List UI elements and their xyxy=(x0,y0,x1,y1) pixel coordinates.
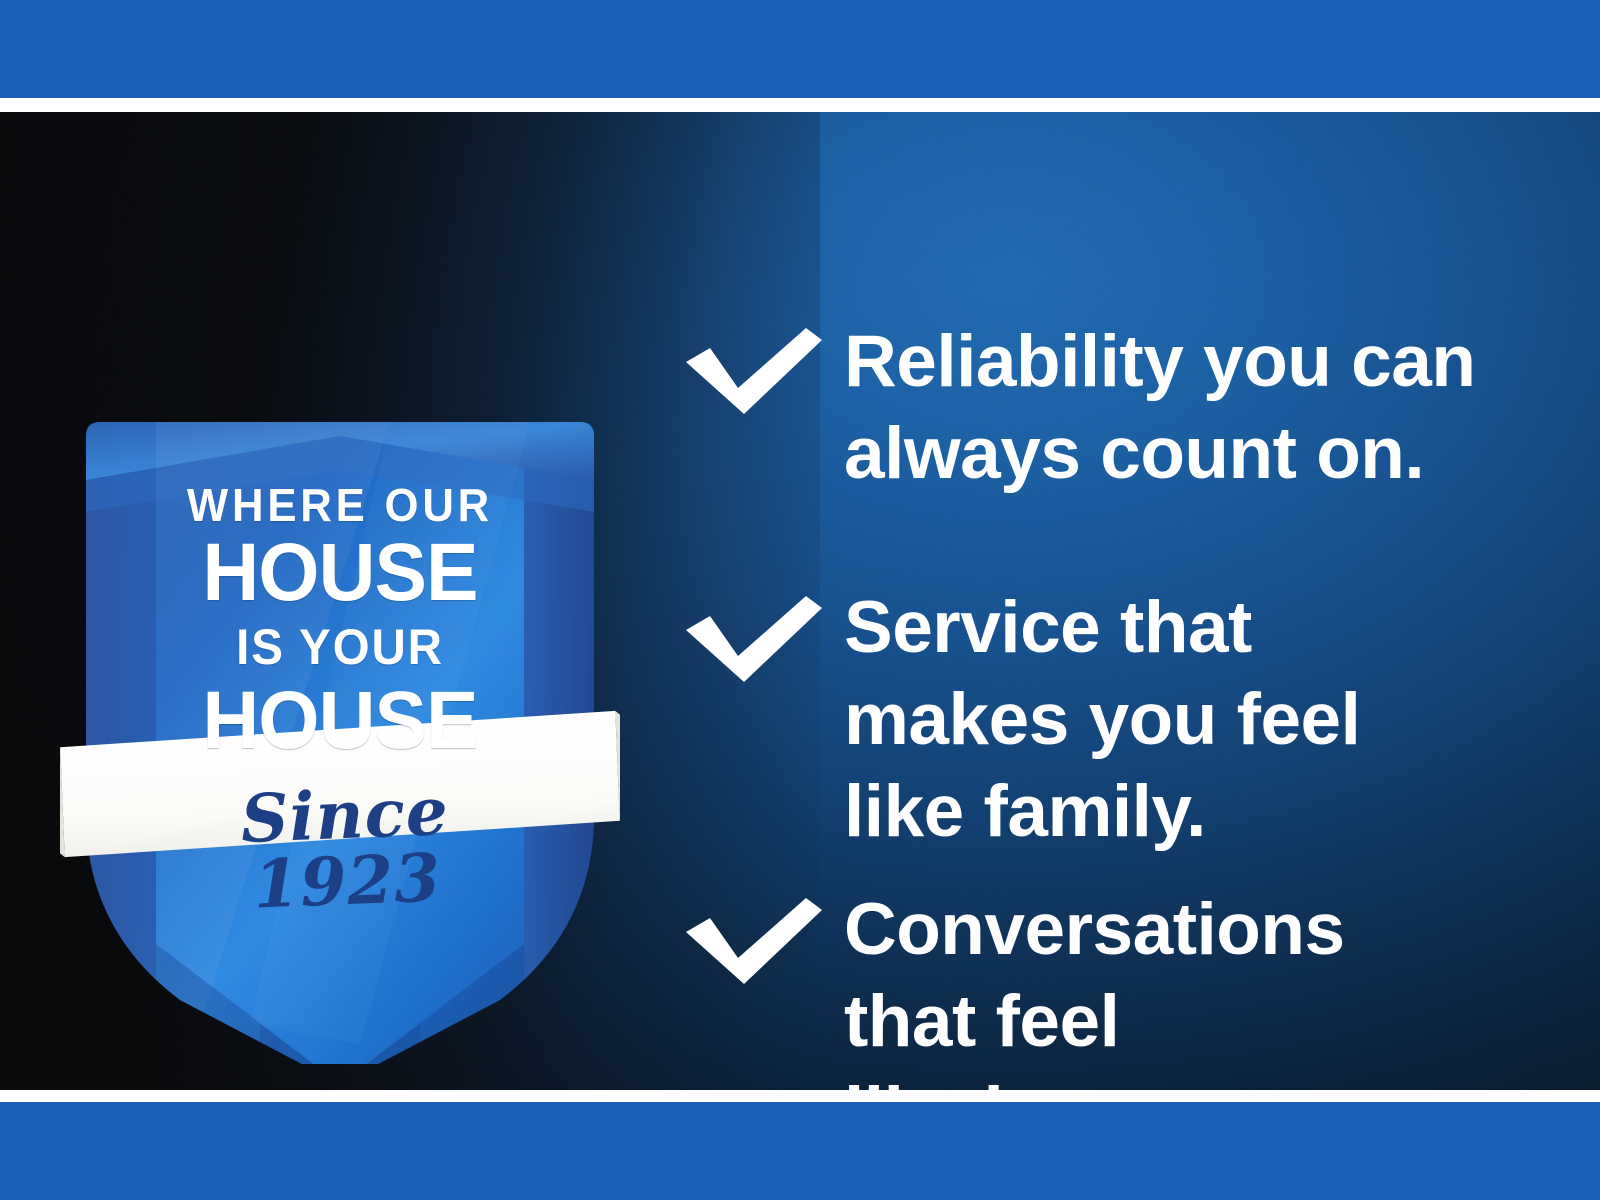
list-item-label: Conversations that feel like home. xyxy=(844,884,1534,1090)
checkmark-icon xyxy=(680,326,826,418)
badge-line-4: HOUSE xyxy=(71,680,609,762)
checkmark-icon xyxy=(680,896,826,988)
promo-graphic: WHERE OUR HOUSE IS YOUR HOUSE Since 1923… xyxy=(0,0,1600,1200)
top-brand-bar xyxy=(0,0,1600,98)
badge-since-text: Since 1923 xyxy=(144,774,549,921)
list-item-label: Service that makes you feel like family. xyxy=(844,582,1534,858)
badge-line-3: IS YOUR xyxy=(74,622,606,672)
bottom-brand-bar xyxy=(0,1102,1600,1200)
badge-line-1: WHERE OUR xyxy=(74,482,606,528)
list-item-label: Reliability you can always count on. xyxy=(844,316,1534,500)
company-badge: WHERE OUR HOUSE IS YOUR HOUSE Since 1923 xyxy=(60,384,620,1064)
main-panel: WHERE OUR HOUSE IS YOUR HOUSE Since 1923… xyxy=(0,112,1600,1090)
benefits-list: Reliability you can always count on. Ser… xyxy=(672,224,1532,1090)
checkmark-icon xyxy=(680,594,826,686)
badge-line-2: HOUSE xyxy=(71,532,609,614)
